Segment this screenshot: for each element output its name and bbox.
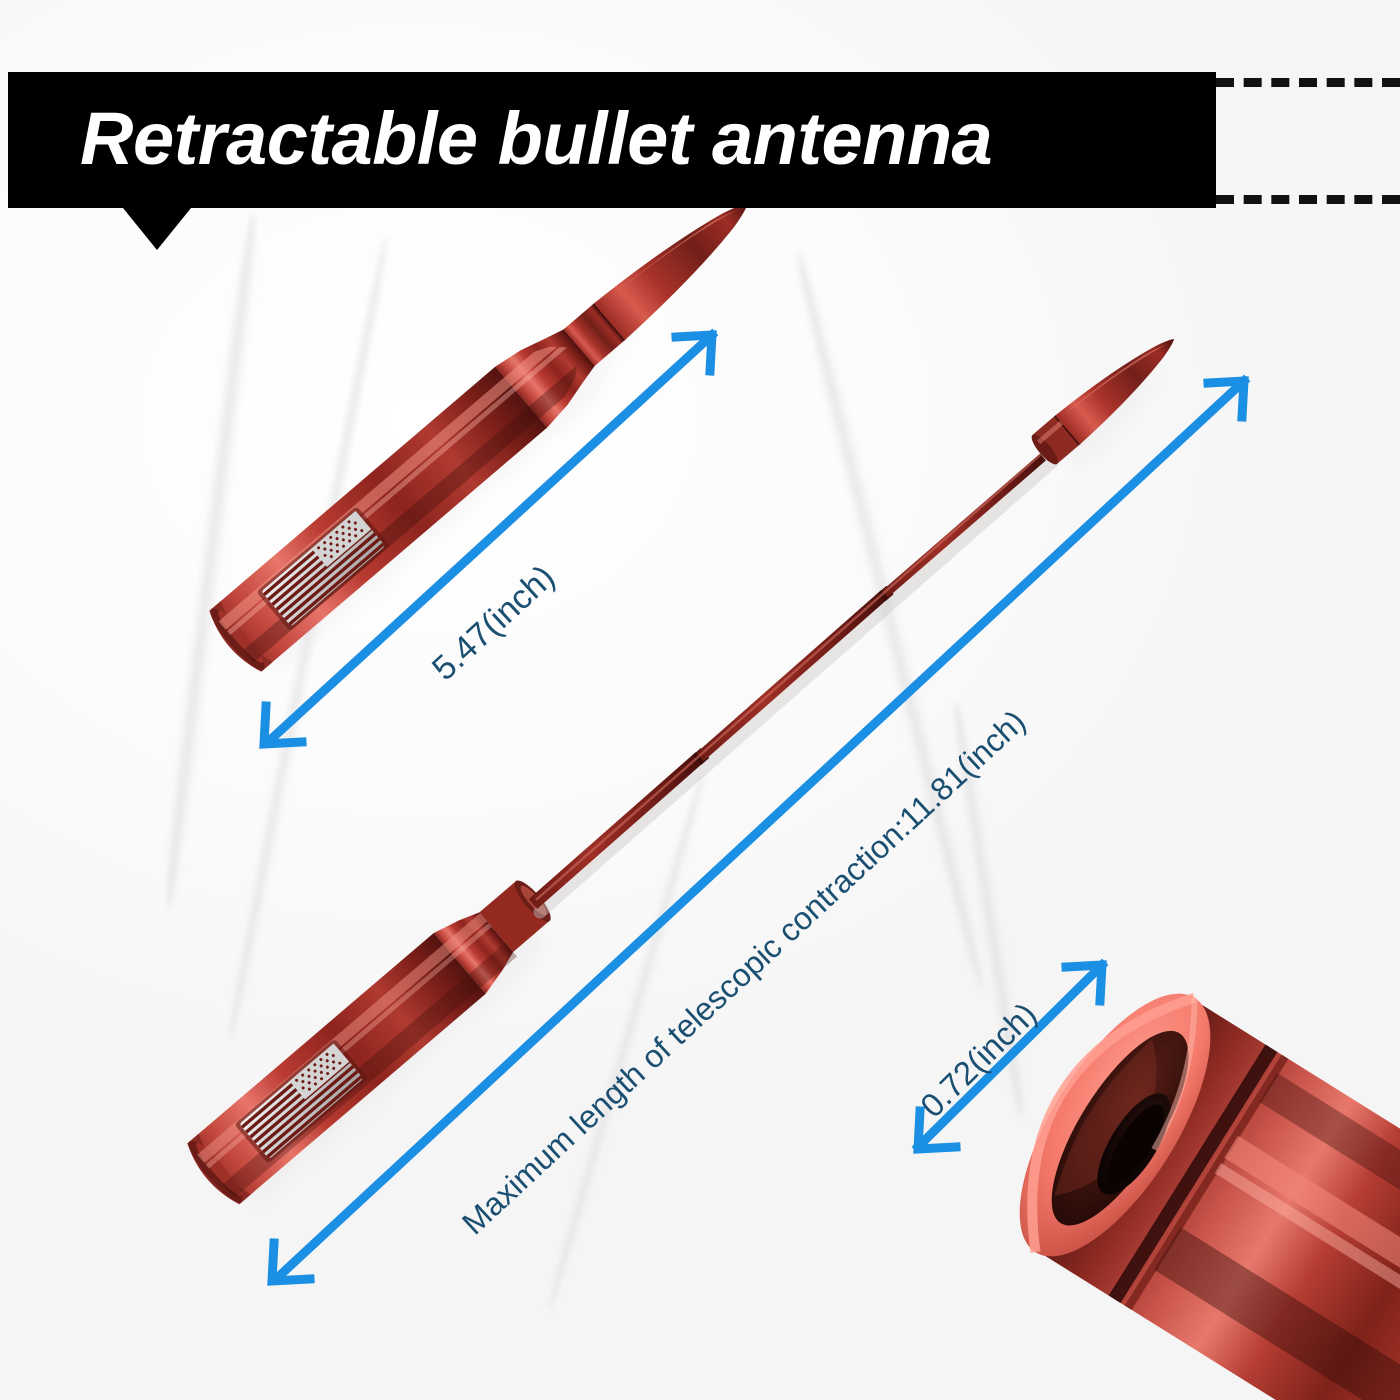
banner-title: Retractable bullet antenna [80, 96, 992, 181]
telescopic-rod-shadow [540, 462, 1052, 912]
base-closeup [983, 965, 1400, 1400]
banner-dash-line-bottom [1216, 195, 1400, 204]
title-banner: Retractable bullet antenna [8, 72, 1216, 208]
telescopic-rod-highlight [536, 455, 1040, 900]
product-photo-layer [0, 0, 1400, 1400]
collapsed-antenna-tip [594, 185, 764, 340]
extended-antenna-tip [1028, 325, 1200, 484]
telescopic-rod-segment-2 [700, 594, 885, 757]
banner-pointer-triangle [123, 208, 191, 250]
telescopic-rod [533, 455, 1052, 912]
banner-dash-line-top [1216, 78, 1400, 87]
telescopic-rod-segment-1 [885, 457, 1043, 594]
product-infographic: 5.47(inch) Maximum length of telescopic … [0, 0, 1400, 1400]
